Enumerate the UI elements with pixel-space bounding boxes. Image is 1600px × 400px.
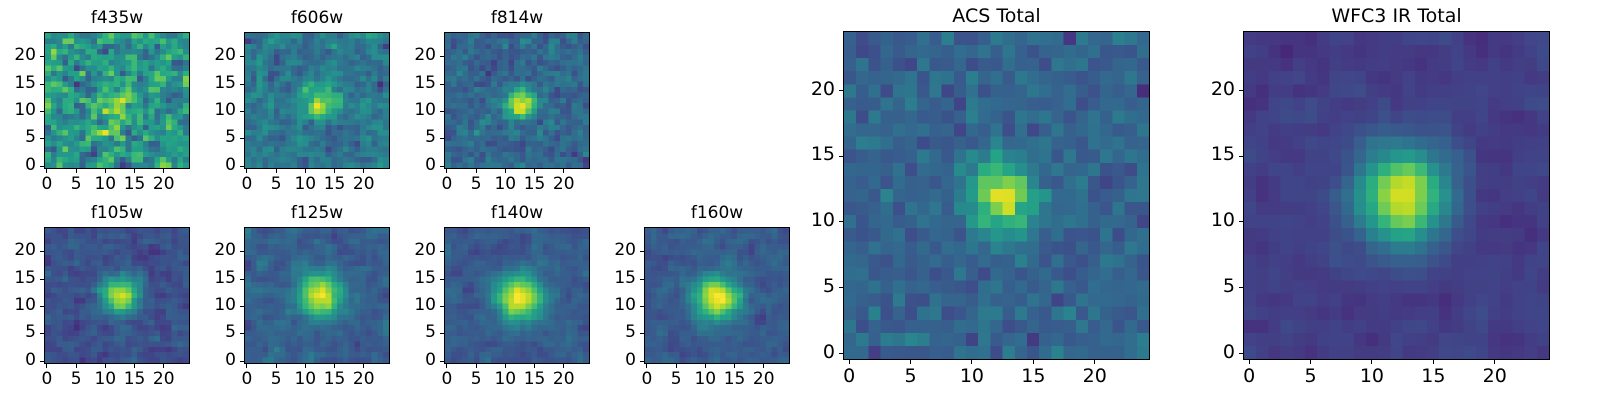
x-tick-mark xyxy=(676,364,677,368)
y-tick-label: 10 xyxy=(178,102,236,119)
panel-title-f105w: f105w xyxy=(44,203,190,223)
y-tick-mark xyxy=(40,138,44,139)
x-tick-label: 20 xyxy=(134,371,194,388)
y-tick-label: 20 xyxy=(1177,80,1235,99)
y-tick-label: 5 xyxy=(0,129,36,146)
y-tick-mark xyxy=(640,333,644,334)
y-tick-mark xyxy=(440,84,444,85)
y-tick-mark xyxy=(1239,353,1243,354)
y-tick-mark xyxy=(40,306,44,307)
heatmap-canvas-f606w xyxy=(245,33,389,168)
panel-title-acs-total: ACS Total xyxy=(843,5,1150,27)
y-tick-label: 10 xyxy=(578,297,636,314)
y-tick-label: 0 xyxy=(378,157,436,174)
heatmap-image-acs-total xyxy=(843,31,1150,360)
x-tick-label: 20 xyxy=(534,371,594,388)
y-tick-label: 15 xyxy=(777,145,835,164)
y-tick-mark xyxy=(440,56,444,57)
y-tick-mark xyxy=(839,156,843,157)
y-tick-mark xyxy=(240,111,244,112)
y-tick-label: 15 xyxy=(378,270,436,287)
x-tick-label: 20 xyxy=(334,176,394,193)
y-tick-label: 5 xyxy=(578,324,636,341)
x-tick-mark xyxy=(849,360,850,364)
y-tick-mark xyxy=(240,279,244,280)
x-tick-mark xyxy=(363,364,364,368)
x-tick-mark xyxy=(563,169,564,173)
y-tick-mark xyxy=(40,84,44,85)
panel-title-f140w: f140w xyxy=(444,203,590,223)
x-tick-label: 20 xyxy=(134,176,194,193)
y-tick-mark xyxy=(40,56,44,57)
x-tick-mark xyxy=(534,364,535,368)
x-tick-label: 0 xyxy=(1219,367,1279,386)
x-tick-mark xyxy=(134,169,135,173)
x-tick-label: 20 xyxy=(1065,367,1125,386)
heatmap-image-f140w xyxy=(444,227,590,364)
y-tick-mark xyxy=(640,251,644,252)
panel-f435w: f435w0510152005101520 xyxy=(44,32,190,169)
x-tick-mark xyxy=(76,169,77,173)
heatmap-image-f105w xyxy=(44,227,190,364)
y-tick-label: 15 xyxy=(0,75,36,92)
y-tick-mark xyxy=(440,111,444,112)
panel-title-f814w: f814w xyxy=(444,8,590,28)
x-tick-mark xyxy=(363,169,364,173)
y-tick-mark xyxy=(1239,221,1243,222)
x-tick-mark xyxy=(134,364,135,368)
y-tick-label: 20 xyxy=(578,242,636,259)
y-tick-label: 5 xyxy=(1177,277,1235,296)
panel-title-f435w: f435w xyxy=(44,8,190,28)
y-tick-mark xyxy=(240,56,244,57)
x-tick-mark xyxy=(1494,360,1495,364)
heatmap-image-f606w xyxy=(244,32,390,169)
y-tick-label: 20 xyxy=(0,47,36,64)
x-tick-label: 15 xyxy=(1003,367,1063,386)
x-tick-mark xyxy=(163,169,164,173)
heatmap-image-f125w xyxy=(244,227,390,364)
x-tick-mark xyxy=(971,360,972,364)
heatmap-canvas-f435w xyxy=(45,33,189,168)
heatmap-canvas-f105w xyxy=(45,228,189,363)
y-tick-mark xyxy=(1239,287,1243,288)
y-tick-label: 5 xyxy=(178,324,236,341)
x-tick-label: 5 xyxy=(881,367,941,386)
y-tick-label: 10 xyxy=(178,297,236,314)
y-tick-label: 10 xyxy=(378,102,436,119)
x-tick-mark xyxy=(1033,360,1034,364)
x-tick-mark xyxy=(246,364,247,368)
x-tick-mark xyxy=(646,364,647,368)
y-tick-mark xyxy=(1239,90,1243,91)
x-tick-mark xyxy=(46,169,47,173)
panel-title-f125w: f125w xyxy=(244,203,390,223)
heatmap-canvas-f814w xyxy=(445,33,589,168)
x-tick-mark xyxy=(1371,360,1372,364)
y-tick-label: 0 xyxy=(178,352,236,369)
y-tick-mark xyxy=(240,306,244,307)
x-tick-label: 20 xyxy=(534,176,594,193)
x-tick-mark xyxy=(563,364,564,368)
y-tick-mark xyxy=(440,251,444,252)
figure-canvas: f435w0510152005101520f606w05101520051015… xyxy=(0,0,1600,400)
y-tick-label: 0 xyxy=(378,352,436,369)
y-tick-label: 15 xyxy=(0,270,36,287)
y-tick-label: 20 xyxy=(777,80,835,99)
y-tick-mark xyxy=(40,279,44,280)
panel-f160w: f160w0510152005101520 xyxy=(644,227,790,364)
y-tick-label: 20 xyxy=(178,47,236,64)
x-tick-mark xyxy=(1310,360,1311,364)
panel-f125w: f125w0510152005101520 xyxy=(244,227,390,364)
y-tick-mark xyxy=(839,90,843,91)
y-tick-label: 10 xyxy=(378,297,436,314)
y-tick-mark xyxy=(440,361,444,362)
x-tick-mark xyxy=(334,364,335,368)
y-tick-label: 5 xyxy=(777,277,835,296)
x-tick-mark xyxy=(246,169,247,173)
x-tick-mark xyxy=(446,364,447,368)
y-tick-label: 0 xyxy=(0,352,36,369)
x-tick-mark xyxy=(334,169,335,173)
y-tick-label: 5 xyxy=(378,129,436,146)
y-tick-label: 0 xyxy=(1177,343,1235,362)
y-tick-mark xyxy=(440,279,444,280)
y-tick-label: 5 xyxy=(178,129,236,146)
y-tick-mark xyxy=(40,251,44,252)
y-tick-mark xyxy=(40,166,44,167)
x-tick-mark xyxy=(305,364,306,368)
x-tick-label: 0 xyxy=(819,367,879,386)
heatmap-image-f814w xyxy=(444,32,590,169)
x-tick-mark xyxy=(276,169,277,173)
x-tick-mark xyxy=(1094,360,1095,364)
y-tick-label: 20 xyxy=(378,242,436,259)
x-tick-label: 10 xyxy=(942,367,1002,386)
x-tick-mark xyxy=(276,364,277,368)
y-tick-mark xyxy=(839,353,843,354)
heatmap-canvas-f160w xyxy=(645,228,789,363)
x-tick-mark xyxy=(505,364,506,368)
x-tick-mark xyxy=(1249,360,1250,364)
x-tick-mark xyxy=(534,169,535,173)
heatmap-image-f160w xyxy=(644,227,790,364)
y-tick-label: 15 xyxy=(178,270,236,287)
x-tick-label: 5 xyxy=(1281,367,1341,386)
heatmap-image-wfc3-ir-total xyxy=(1243,31,1550,360)
y-tick-mark xyxy=(240,84,244,85)
y-tick-mark xyxy=(1239,156,1243,157)
y-tick-mark xyxy=(40,333,44,334)
panel-acs-total: ACS Total0510152005101520 xyxy=(843,31,1150,360)
heatmap-image-f435w xyxy=(44,32,190,169)
panel-title-f606w: f606w xyxy=(244,8,390,28)
x-tick-mark xyxy=(105,364,106,368)
x-tick-label: 15 xyxy=(1403,367,1463,386)
x-tick-mark xyxy=(76,364,77,368)
y-tick-mark xyxy=(640,361,644,362)
y-tick-mark xyxy=(640,279,644,280)
y-tick-mark xyxy=(240,251,244,252)
x-tick-mark xyxy=(476,169,477,173)
y-tick-label: 15 xyxy=(378,75,436,92)
y-tick-label: 15 xyxy=(1177,145,1235,164)
x-tick-mark xyxy=(734,364,735,368)
y-tick-label: 0 xyxy=(0,157,36,174)
y-tick-label: 20 xyxy=(178,242,236,259)
x-tick-label: 10 xyxy=(1342,367,1402,386)
x-tick-mark xyxy=(705,364,706,368)
heatmap-canvas-f140w xyxy=(445,228,589,363)
y-tick-label: 15 xyxy=(178,75,236,92)
y-tick-mark xyxy=(440,138,444,139)
y-tick-label: 10 xyxy=(1177,211,1235,230)
y-tick-mark xyxy=(240,361,244,362)
panel-f606w: f606w0510152005101520 xyxy=(244,32,390,169)
x-tick-mark xyxy=(1433,360,1434,364)
y-tick-mark xyxy=(40,361,44,362)
y-tick-label: 5 xyxy=(0,324,36,341)
panel-title-wfc3-ir-total: WFC3 IR Total xyxy=(1243,5,1550,27)
y-tick-mark xyxy=(440,333,444,334)
y-tick-mark xyxy=(839,221,843,222)
y-tick-label: 20 xyxy=(0,242,36,259)
y-tick-label: 0 xyxy=(578,352,636,369)
y-tick-label: 10 xyxy=(0,102,36,119)
heatmap-canvas-f125w xyxy=(245,228,389,363)
y-tick-mark xyxy=(440,306,444,307)
y-tick-label: 0 xyxy=(178,157,236,174)
x-tick-mark xyxy=(46,364,47,368)
x-tick-label: 20 xyxy=(734,371,794,388)
y-tick-label: 10 xyxy=(777,211,835,230)
panel-title-f160w: f160w xyxy=(644,203,790,223)
x-tick-mark xyxy=(910,360,911,364)
y-tick-mark xyxy=(640,306,644,307)
heatmap-canvas-wfc3-ir-total xyxy=(1244,32,1549,359)
y-tick-mark xyxy=(240,138,244,139)
x-tick-mark xyxy=(476,364,477,368)
panel-f140w: f140w0510152005101520 xyxy=(444,227,590,364)
y-tick-mark xyxy=(40,111,44,112)
x-tick-mark xyxy=(305,169,306,173)
y-tick-label: 10 xyxy=(0,297,36,314)
panel-wfc3-ir-total: WFC3 IR Total0510152005101520 xyxy=(1243,31,1550,360)
y-tick-label: 0 xyxy=(777,343,835,362)
y-tick-mark xyxy=(240,166,244,167)
x-tick-mark xyxy=(446,169,447,173)
x-tick-label: 20 xyxy=(1465,367,1525,386)
y-tick-label: 5 xyxy=(378,324,436,341)
x-tick-label: 20 xyxy=(334,371,394,388)
panel-f814w: f814w0510152005101520 xyxy=(444,32,590,169)
x-tick-mark xyxy=(105,169,106,173)
panel-f105w: f105w0510152005101520 xyxy=(44,227,190,364)
y-tick-mark xyxy=(240,333,244,334)
y-tick-label: 15 xyxy=(578,270,636,287)
y-tick-mark xyxy=(440,166,444,167)
heatmap-canvas-acs-total xyxy=(844,32,1149,359)
y-tick-label: 20 xyxy=(378,47,436,64)
x-tick-mark xyxy=(505,169,506,173)
y-tick-mark xyxy=(839,287,843,288)
x-tick-mark xyxy=(163,364,164,368)
x-tick-mark xyxy=(763,364,764,368)
